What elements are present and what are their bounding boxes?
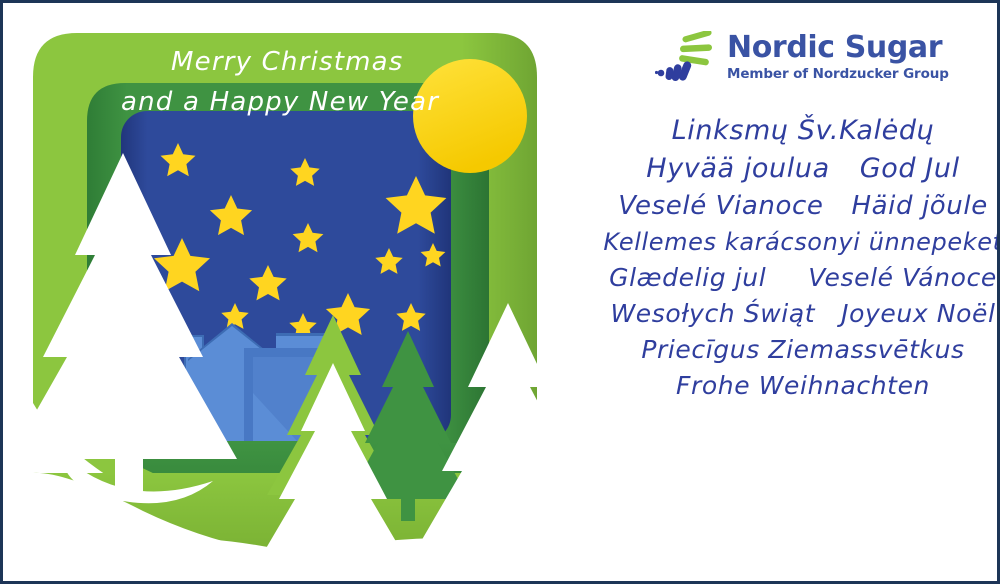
greeting-text: Häid jõule — [852, 191, 988, 221]
greeting-row: Frohe Weihnachten — [603, 371, 1000, 400]
moon-icon — [413, 59, 527, 173]
greeting-text: Hyvää joulua — [646, 153, 829, 184]
greeting-row: Glædelig julVeselé Vánoce — [603, 263, 1000, 292]
greeting-row: Wesołych ŚwiątJoyeux Noël — [603, 299, 1000, 328]
multilingual-greetings: Linksmų Šv.KalėdųHyvää jouluaGod JulVese… — [603, 115, 1000, 407]
snow-base — [3, 559, 603, 584]
greeting-text: Joyeux Noël — [841, 299, 995, 328]
greeting-text: Wesołych Świąt — [610, 299, 815, 328]
greeting-text: Priecīgus Ziemassvētkus — [641, 335, 964, 364]
christmas-card: Merry Christmas and a Happy New Year — [0, 0, 1000, 584]
greeting-row: Veselé VianoceHäid jõule — [603, 191, 1000, 221]
greeting-text: Linksmų Šv.Kalėdų — [672, 115, 935, 146]
greeting-row: Priecīgus Ziemassvētkus — [603, 335, 1000, 364]
greeting-text: Kellemes karácsonyi ünnepeket — [603, 228, 1000, 256]
greeting-text: Veselé Vánoce — [808, 263, 997, 292]
nordic-sugar-burst-icon — [655, 31, 719, 83]
greeting-text: Frohe Weihnachten — [676, 371, 930, 400]
greeting-row: Linksmų Šv.Kalėdų — [603, 115, 1000, 146]
message-panel: Nordic Sugar Member of Nordzucker Group … — [603, 3, 1000, 584]
brand-logo-text: Nordic Sugar Member of Nordzucker Group — [727, 31, 949, 82]
greeting-text: Veselé Vianoce — [618, 191, 823, 221]
brand-tagline: Member of Nordzucker Group — [727, 66, 949, 82]
greeting-row: Kellemes karácsonyi ünnepeket — [603, 228, 1000, 256]
illustration-panel: Merry Christmas and a Happy New Year — [3, 3, 603, 584]
brand-name: Nordic Sugar — [727, 33, 949, 64]
greeting-text: God Jul — [860, 153, 960, 184]
greeting-row: Hyvää jouluaGod Jul — [603, 153, 1000, 184]
brand-logo: Nordic Sugar Member of Nordzucker Group — [655, 31, 949, 83]
greeting-text: Glædelig jul — [609, 263, 766, 292]
